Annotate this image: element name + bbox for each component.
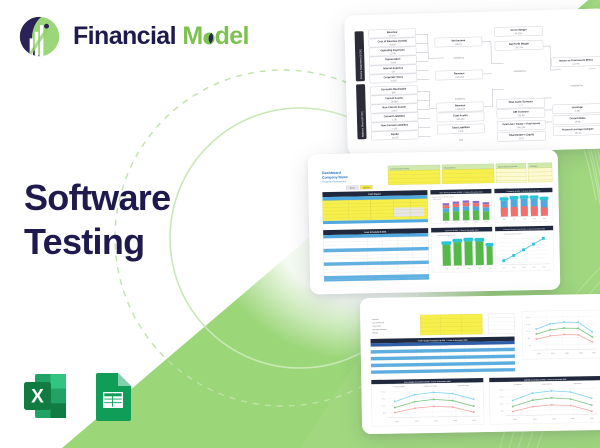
svg-text:$1,500: $1,500: [382, 398, 386, 400]
svg-text:$1,000: $1,000: [382, 405, 386, 407]
file-format-icons: X: [22, 371, 136, 421]
svg-text:Cash Impact: Cash Impact: [368, 193, 381, 196]
svg-text:2016: 2016: [513, 419, 517, 421]
chart-bottom-right: EBITDA Assumption ($ 000) - 5 Years to D…: [489, 376, 600, 424]
svg-text:2018: 2018: [565, 353, 569, 355]
svg-text:2018: 2018: [522, 267, 525, 269]
svg-text:2019: 2019: [533, 218, 536, 220]
svg-text:Revenue: Revenue: [455, 104, 466, 107]
brand-logo[interactable]: Financial Mdel: [17, 14, 249, 59]
svg-text:14.07%: 14.07%: [572, 63, 580, 65]
brand-name-financial: Financial: [73, 24, 176, 49]
chart-profitability: Profitability ($ 000) - 5 Years to Decem…: [494, 188, 553, 223]
svg-text:Net Profit Margin: Net Profit Margin: [509, 42, 530, 46]
svg-text:1,500,000: 1,500,000: [455, 109, 466, 111]
svg-text:multiplied by: multiplied by: [571, 84, 584, 87]
svg-text:Revenue: Revenue: [372, 319, 379, 321]
chart-investment-payback: Investment Payback Chart ($ 000) - 5 Yea…: [495, 226, 554, 272]
financial-model-circle-bars-logo: [17, 14, 62, 59]
svg-text:$2,000: $2,000: [499, 389, 503, 391]
svg-text:Update: Update: [363, 186, 370, 189]
margins-card[interactable]: Revenue Cost of Revenue Gross Profit Ope…: [360, 294, 600, 434]
svg-text:2,191: 2,191: [392, 110, 398, 112]
svg-text:2020: 2020: [543, 218, 546, 220]
title-line-2: Testing: [24, 220, 170, 264]
svg-text:$1,500: $1,500: [500, 396, 504, 398]
svg-text:Balance Sheet ($ 000): Balance Sheet ($ 000): [360, 111, 365, 137]
svg-text:2016: 2016: [503, 219, 506, 221]
svg-text:▪ Low Gross Margin: ▪ Low Gross Margin: [393, 386, 405, 388]
svg-text:divided by: divided by: [454, 57, 465, 59]
margins-ratios-sheet: Revenue Cost of Revenue Gross Profit Ope…: [360, 294, 600, 434]
svg-text:2016: 2016: [537, 353, 541, 355]
svg-text:$500: $500: [501, 410, 504, 412]
svg-text:10,988: 10,988: [391, 101, 399, 103]
svg-text:Financial Performance: Financial Performance: [322, 180, 347, 183]
svg-text:7,400: 7,400: [458, 131, 464, 133]
svg-text:2019: 2019: [475, 221, 478, 223]
svg-text:2019: 2019: [579, 352, 583, 354]
svg-text:Interest Expense: Interest Expense: [383, 67, 404, 71]
svg-text:1,191: 1,191: [392, 128, 398, 130]
svg-text:161.21: 161.21: [575, 132, 583, 134]
page-title: Software Testing: [24, 176, 170, 264]
svg-text:$1,000: $1,000: [500, 403, 504, 405]
chart-top-right: 20162017201820192020 $2,000$1,500$1,000$…: [522, 310, 600, 359]
chart-bottom-left: Gross Margin Assumption ($ 000) - 5 Year…: [371, 378, 484, 426]
cash-impact-table: Cash Impact: [322, 190, 428, 224]
svg-text:Leverage: Leverage: [572, 106, 584, 109]
svg-text:2020: 2020: [485, 221, 488, 223]
svg-text:239.28: 239.28: [518, 115, 526, 117]
svg-text:2017: 2017: [512, 267, 515, 269]
title-line-1: Software: [24, 176, 170, 220]
brand-name-del: del: [215, 24, 249, 49]
financials-table: Profit / Margin Assumption ($ 000) - 5 Y…: [371, 336, 516, 373]
svg-text:10,019: 10,019: [392, 137, 400, 139]
dupont-tree-card[interactable]: Income Statement ($ 000) Balance Sheet (…: [344, 8, 600, 155]
svg-text:2017: 2017: [415, 421, 419, 423]
chart-revenue-streams: Top 5 Revenue Streams ($ 000) - 5 Years …: [430, 189, 492, 224]
svg-text:Total Assets: Total Assets: [453, 114, 468, 117]
svg-text:2016: 2016: [445, 222, 448, 224]
svg-text:2019: 2019: [532, 267, 535, 269]
svg-text:-2,740: -2,740: [390, 53, 397, 55]
svg-text:2018: 2018: [465, 221, 468, 223]
svg-text:2019: 2019: [571, 418, 575, 420]
leaf-drop-icon: [203, 28, 215, 47]
svg-text:A/R Turnover: A/R Turnover: [513, 110, 529, 113]
svg-text:divided by: divided by: [455, 98, 466, 100]
svg-text:2016: 2016: [502, 267, 505, 269]
svg-text:2017: 2017: [533, 419, 537, 421]
svg-text:Non-Current Assets: Non-Current Assets: [382, 106, 406, 110]
svg-text:2020: 2020: [472, 420, 476, 422]
chart-cash-flow: Cash Flow ($ 000) - 5 Years to December …: [431, 227, 494, 273]
svg-text:Current Assets: Current Assets: [385, 97, 404, 101]
svg-text:multiplied by: multiplied by: [514, 70, 527, 73]
svg-text:2017: 2017: [519, 138, 525, 140]
svg-text:▪ Medium Gross Margin: ▪ Medium Gross Margin: [423, 385, 437, 387]
excel-x-label: X: [31, 387, 44, 408]
svg-text:2020: 2020: [590, 418, 594, 420]
svg-text:2018: 2018: [523, 218, 526, 220]
svg-text:2019: 2019: [453, 420, 457, 422]
svg-text:-137: -137: [391, 71, 396, 73]
dashboard-card[interactable]: Dashboard Company Name Financial Perform…: [308, 150, 561, 295]
svg-text:Revenue: Revenue: [387, 31, 398, 34]
svg-text:$1,000: $1,000: [526, 331, 530, 333]
svg-text:Equity: Equity: [391, 133, 399, 136]
svg-text:2017: 2017: [456, 268, 459, 270]
svg-text:Depreciation: Depreciation: [385, 58, 401, 61]
google-sheets-icon[interactable]: [90, 371, 136, 421]
svg-text:Company Name: Company Name: [322, 175, 348, 179]
svg-text:Current Ratio: Current Ratio: [570, 117, 587, 120]
svg-text:2018: 2018: [434, 420, 438, 422]
svg-text:$1,500: $1,500: [526, 324, 530, 326]
dashboard-spreadsheet: Dashboard Company Name Financial Perform…: [308, 150, 561, 295]
svg-text:▪ High Gross Margin: ▪ High Gross Margin: [457, 385, 469, 387]
loan-schedule-table: Loan Schedule ($ 000): [323, 228, 429, 281]
svg-text:2018: 2018: [467, 268, 470, 270]
svg-text:1,500,000: 1,500,000: [454, 77, 465, 79]
svg-text:$2,000: $2,000: [526, 317, 530, 319]
svg-text:2020: 2020: [542, 266, 545, 268]
svg-text:$500: $500: [528, 338, 531, 340]
svg-text:2020: 2020: [592, 352, 596, 354]
poster-canvas: Financial Mdel Software Testing X: [0, 0, 600, 448]
svg-text:4.48x: 4.48x: [575, 110, 581, 112]
svg-text:Total Liabilities: Total Liabilities: [452, 126, 471, 130]
svg-text:-1,081: -1,081: [390, 62, 397, 64]
svg-text:Current Liabilities: Current Liabilities: [384, 115, 406, 119]
svg-text:466.91: 466.91: [455, 44, 463, 46]
svg-text:29.17%: 29.17%: [515, 47, 523, 49]
svg-text:Net Income: Net Income: [452, 39, 466, 42]
svg-text:$2,000: $2,000: [381, 391, 385, 393]
svg-text:Reset: Reset: [350, 187, 356, 190]
svg-text:2016: 2016: [395, 421, 399, 423]
svg-text:18.48: 18.48: [575, 121, 581, 123]
svg-text:2017: 2017: [455, 222, 458, 224]
svg-text:2020: 2020: [488, 267, 491, 269]
microsoft-excel-icon[interactable]: X: [22, 371, 68, 421]
svg-text:2017: 2017: [513, 218, 516, 220]
svg-text:2019: 2019: [478, 268, 481, 270]
brand-wordmark: Financial Mdel: [73, 24, 249, 49]
svg-text:44.05%: 44.05%: [515, 33, 523, 35]
svg-text:Gross Margin: Gross Margin: [510, 28, 527, 31]
svg-text:10,000: 10,000: [389, 35, 397, 37]
svg-text:Revenue: Revenue: [454, 72, 465, 75]
dupont-tree-diagram: Income Statement ($ 000) Balance Sheet (…: [344, 8, 600, 155]
svg-text:2017: 2017: [551, 353, 555, 355]
brand-name-m: M: [182, 24, 202, 49]
svg-text:2018: 2018: [552, 418, 556, 420]
svg-text:$500: $500: [383, 412, 386, 414]
svg-text:-9,525: -9,525: [390, 80, 397, 82]
svg-text:-6,000: -6,000: [389, 44, 396, 46]
svg-text:1,191: 1,191: [392, 119, 398, 121]
svg-text:560,250: 560,250: [457, 119, 466, 121]
svg-text:Corporate Taxes: Corporate Taxes: [384, 76, 404, 80]
svg-text:Loan Schedule ($ 000): Loan Schedule ($ 000): [364, 232, 386, 234]
svg-text:560,250: 560,250: [517, 127, 526, 129]
svg-text:2016: 2016: [445, 268, 448, 270]
